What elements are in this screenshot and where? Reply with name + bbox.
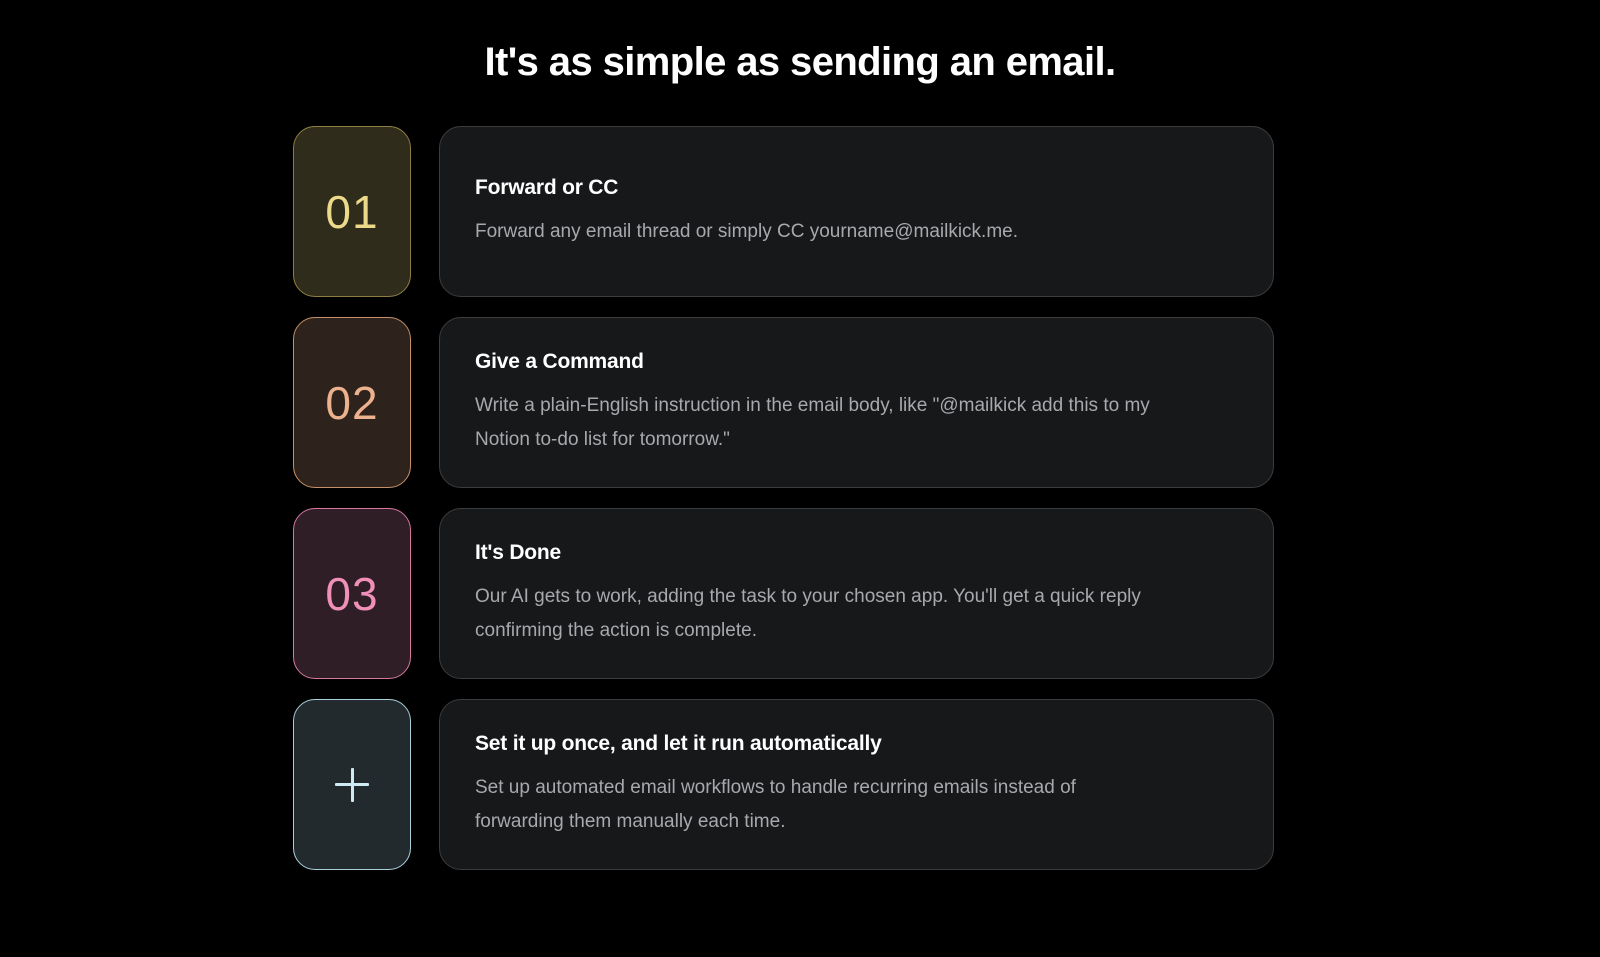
plus-icon [335,768,369,802]
page-title: It's as simple as sending an email. [0,38,1600,86]
step-number-label: 03 [325,571,378,617]
step-description: Write a plain-English instruction in the… [475,389,1155,456]
step-item-automation: Set it up once, and let it run automatic… [293,699,1274,870]
how-it-works-section: It's as simple as sending an email. 01 F… [0,0,1600,957]
step-item: 03 It's Done Our AI gets to work, adding… [293,508,1274,679]
step-card-automation: Set it up once, and let it run automatic… [439,699,1274,870]
add-workflow-badge[interactable] [293,699,411,870]
step-description: Forward any email thread or simply CC yo… [475,215,1155,248]
step-number-label: 01 [325,189,378,235]
step-title: Forward or CC [475,175,1239,201]
step-item: 01 Forward or CC Forward any email threa… [293,126,1274,297]
step-card-03: It's Done Our AI gets to work, adding th… [439,508,1274,679]
step-badge-02: 02 [293,317,411,488]
step-card-02: Give a Command Write a plain-English ins… [439,317,1274,488]
step-description: Set up automated email workflows to hand… [475,771,1155,838]
step-badge-01: 01 [293,126,411,297]
step-title: Give a Command [475,349,1239,375]
step-title: Set it up once, and let it run automatic… [475,731,1239,757]
steps-list: 01 Forward or CC Forward any email threa… [293,126,1274,870]
step-badge-03: 03 [293,508,411,679]
step-description: Our AI gets to work, adding the task to … [475,580,1155,647]
step-number-label: 02 [325,380,378,426]
step-item: 02 Give a Command Write a plain-English … [293,317,1274,488]
step-card-01: Forward or CC Forward any email thread o… [439,126,1274,297]
step-title: It's Done [475,540,1239,566]
